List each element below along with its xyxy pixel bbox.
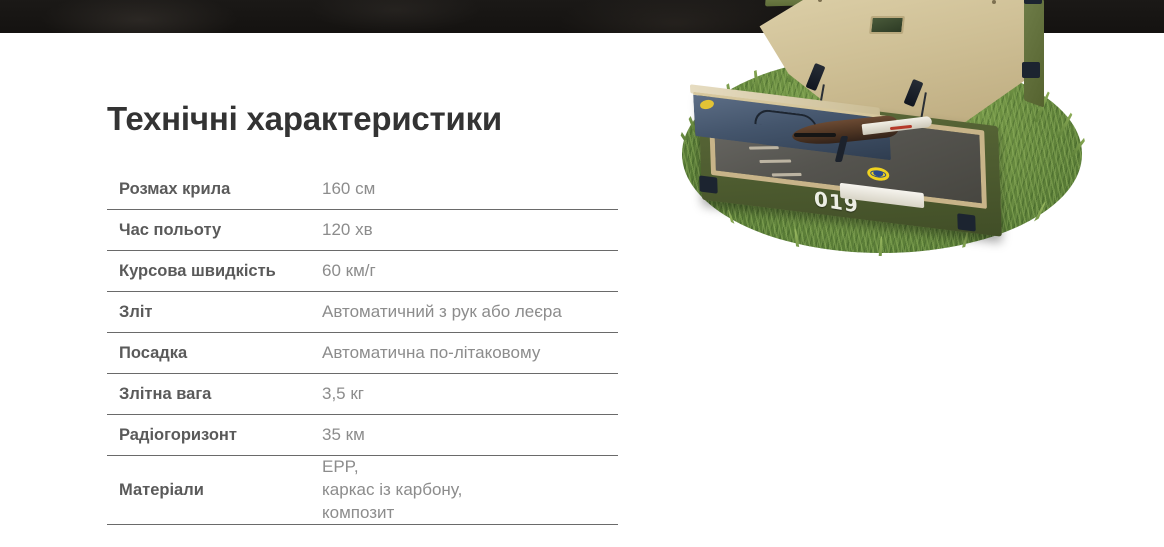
lid-corner-protector (1024, 0, 1042, 4)
lid-handle-recess (869, 16, 905, 34)
table-row: Курсова швидкість 60 км/г (107, 251, 618, 292)
spec-value: 35 км (322, 415, 618, 456)
spec-value: EPP, каркас із карбону, композит (322, 456, 618, 525)
spec-label: Матеріали (107, 456, 322, 525)
table-row: Посадка Автоматична по-літаковому (107, 333, 618, 374)
table-row: Радіогоризонт 35 км (107, 415, 618, 456)
propeller (784, 124, 836, 146)
specifications-section: Технічні характеристики Розмах крила 160… (107, 33, 627, 525)
table-row: Розмах крила 160 см (107, 169, 618, 210)
spec-value: Автоматичний з рук або леєра (322, 292, 618, 333)
lid-side-rim (1024, 0, 1044, 108)
table-row: Зліт Автоматичний з рук або леєра (107, 292, 618, 333)
tray-corner-protector (957, 213, 976, 231)
spec-label: Час польоту (107, 210, 322, 251)
spec-value: 160 см (322, 169, 618, 210)
lid-corner-protector (1022, 62, 1040, 78)
tray-corner-protector (699, 175, 718, 193)
table-row: Матеріали EPP, каркас із карбону, композ… (107, 456, 618, 525)
table-row: Час польоту 120 хв (107, 210, 618, 251)
spec-value: 120 хв (322, 210, 618, 251)
spec-value: Автоматична по-літаковому (322, 333, 618, 374)
spec-value: 60 км/г (322, 251, 618, 292)
product-photo: 019 (664, 0, 1104, 260)
spec-label: Курсова швидкість (107, 251, 322, 292)
spec-value: 3,5 кг (322, 374, 618, 415)
table-row: Злітна вага 3,5 кг (107, 374, 618, 415)
spec-label: Радіогоризонт (107, 415, 322, 456)
aircraft-roundel-marking (867, 166, 889, 182)
specifications-table: Розмах крила 160 см Час польоту 120 хв К… (107, 169, 618, 525)
page-root: Технічні характеристики Розмах крила 160… (0, 0, 1164, 547)
spec-label: Злітна вага (107, 374, 322, 415)
spec-label: Зліт (107, 292, 322, 333)
spec-label: Розмах крила (107, 169, 322, 210)
spec-label: Посадка (107, 333, 322, 374)
page-title: Технічні характеристики (107, 100, 627, 138)
